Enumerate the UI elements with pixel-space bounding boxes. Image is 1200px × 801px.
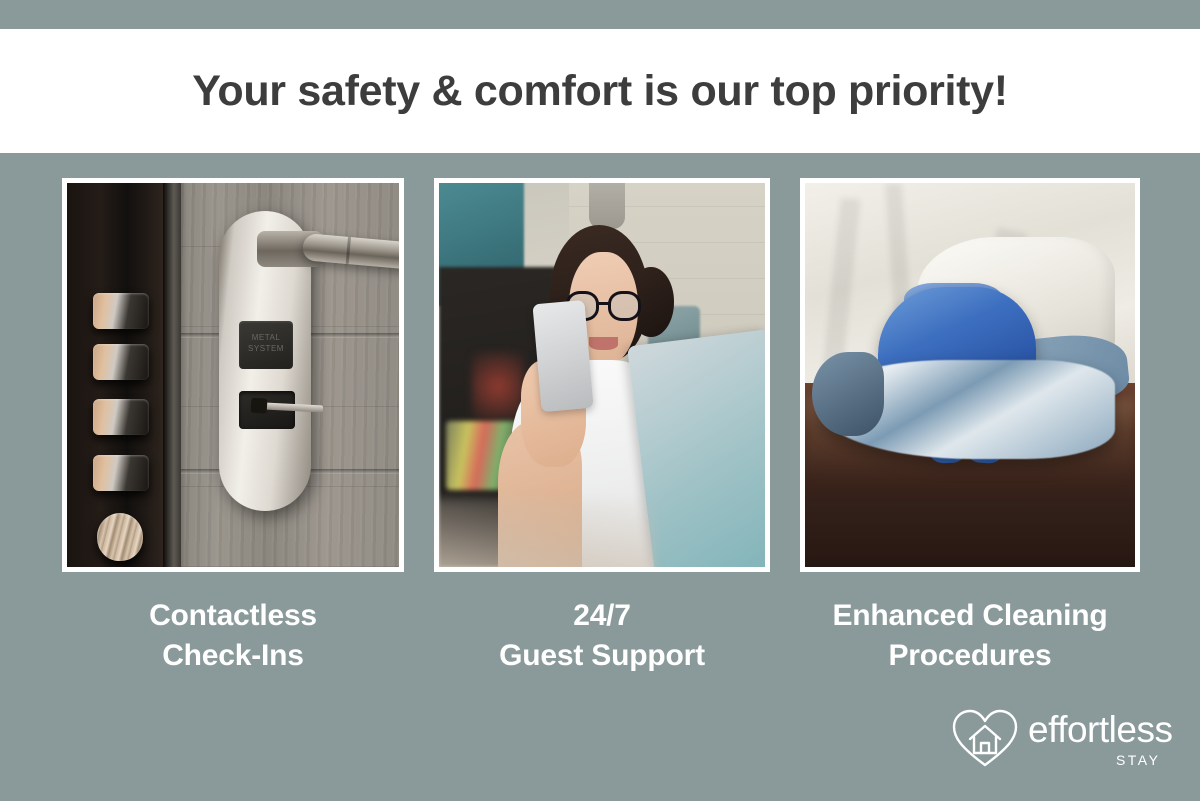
caption-guest-support-line-1: 24/7 — [434, 596, 770, 636]
door-edge — [163, 183, 181, 567]
lock-pin — [93, 455, 149, 491]
lock-pin — [93, 399, 149, 435]
feature-card-guest-support — [434, 178, 770, 572]
brand-logo: effortless STAY — [952, 708, 1152, 786]
glasses-bridge — [598, 302, 608, 305]
woman-smile — [589, 337, 618, 350]
foreground-blur — [439, 498, 654, 567]
caption-contactless: Contactless Check-Ins — [62, 596, 404, 676]
caption-guest-support: 24/7 Guest Support — [434, 596, 770, 676]
brand-tagline: STAY — [1116, 752, 1161, 768]
glasses-right-lens — [608, 291, 641, 322]
feature-card-contactless: METAL SYSTEM — [62, 178, 404, 572]
lock-brand-plate: METAL SYSTEM — [239, 321, 293, 369]
lock-plate-line-1: METAL — [252, 333, 281, 342]
caption-guest-support-line-2: Guest Support — [434, 636, 770, 676]
caption-cleaning-line-1: Enhanced Cleaning — [795, 596, 1145, 636]
lock-pin — [93, 293, 149, 329]
lock-plate-line-2: SYSTEM — [248, 344, 284, 353]
brand-name: effortless — [1028, 710, 1172, 750]
caption-cleaning: Enhanced Cleaning Procedures — [795, 596, 1145, 676]
smartphone — [532, 300, 593, 412]
caption-contactless-line-1: Contactless — [62, 596, 404, 636]
lock-knob — [97, 513, 143, 561]
cleaning-cloth-roll — [812, 352, 885, 436]
page-title: Your safety & comfort is our top priorit… — [192, 67, 1008, 116]
poster-canvas: Your safety & comfort is our top priorit… — [0, 0, 1200, 801]
feature-card-cleaning — [800, 178, 1140, 572]
headline-band: Your safety & comfort is our top priorit… — [0, 29, 1200, 153]
lock-pin — [93, 344, 149, 380]
heart-house-icon — [952, 708, 1018, 770]
pendant-lamp — [589, 183, 625, 229]
contactless-door-lock-photo: METAL SYSTEM — [67, 183, 399, 567]
enhanced-cleaning-photo — [805, 183, 1135, 567]
caption-contactless-line-2: Check-Ins — [62, 636, 404, 676]
feature-cards-row: METAL SYSTEM — [0, 178, 1200, 574]
feature-captions-row: Contactless Check-Ins 24/7 Guest Support… — [0, 596, 1200, 696]
guest-support-photo — [439, 183, 765, 567]
brand-logo-text: effortless STAY — [1028, 708, 1172, 768]
caption-cleaning-line-2: Procedures — [795, 636, 1145, 676]
